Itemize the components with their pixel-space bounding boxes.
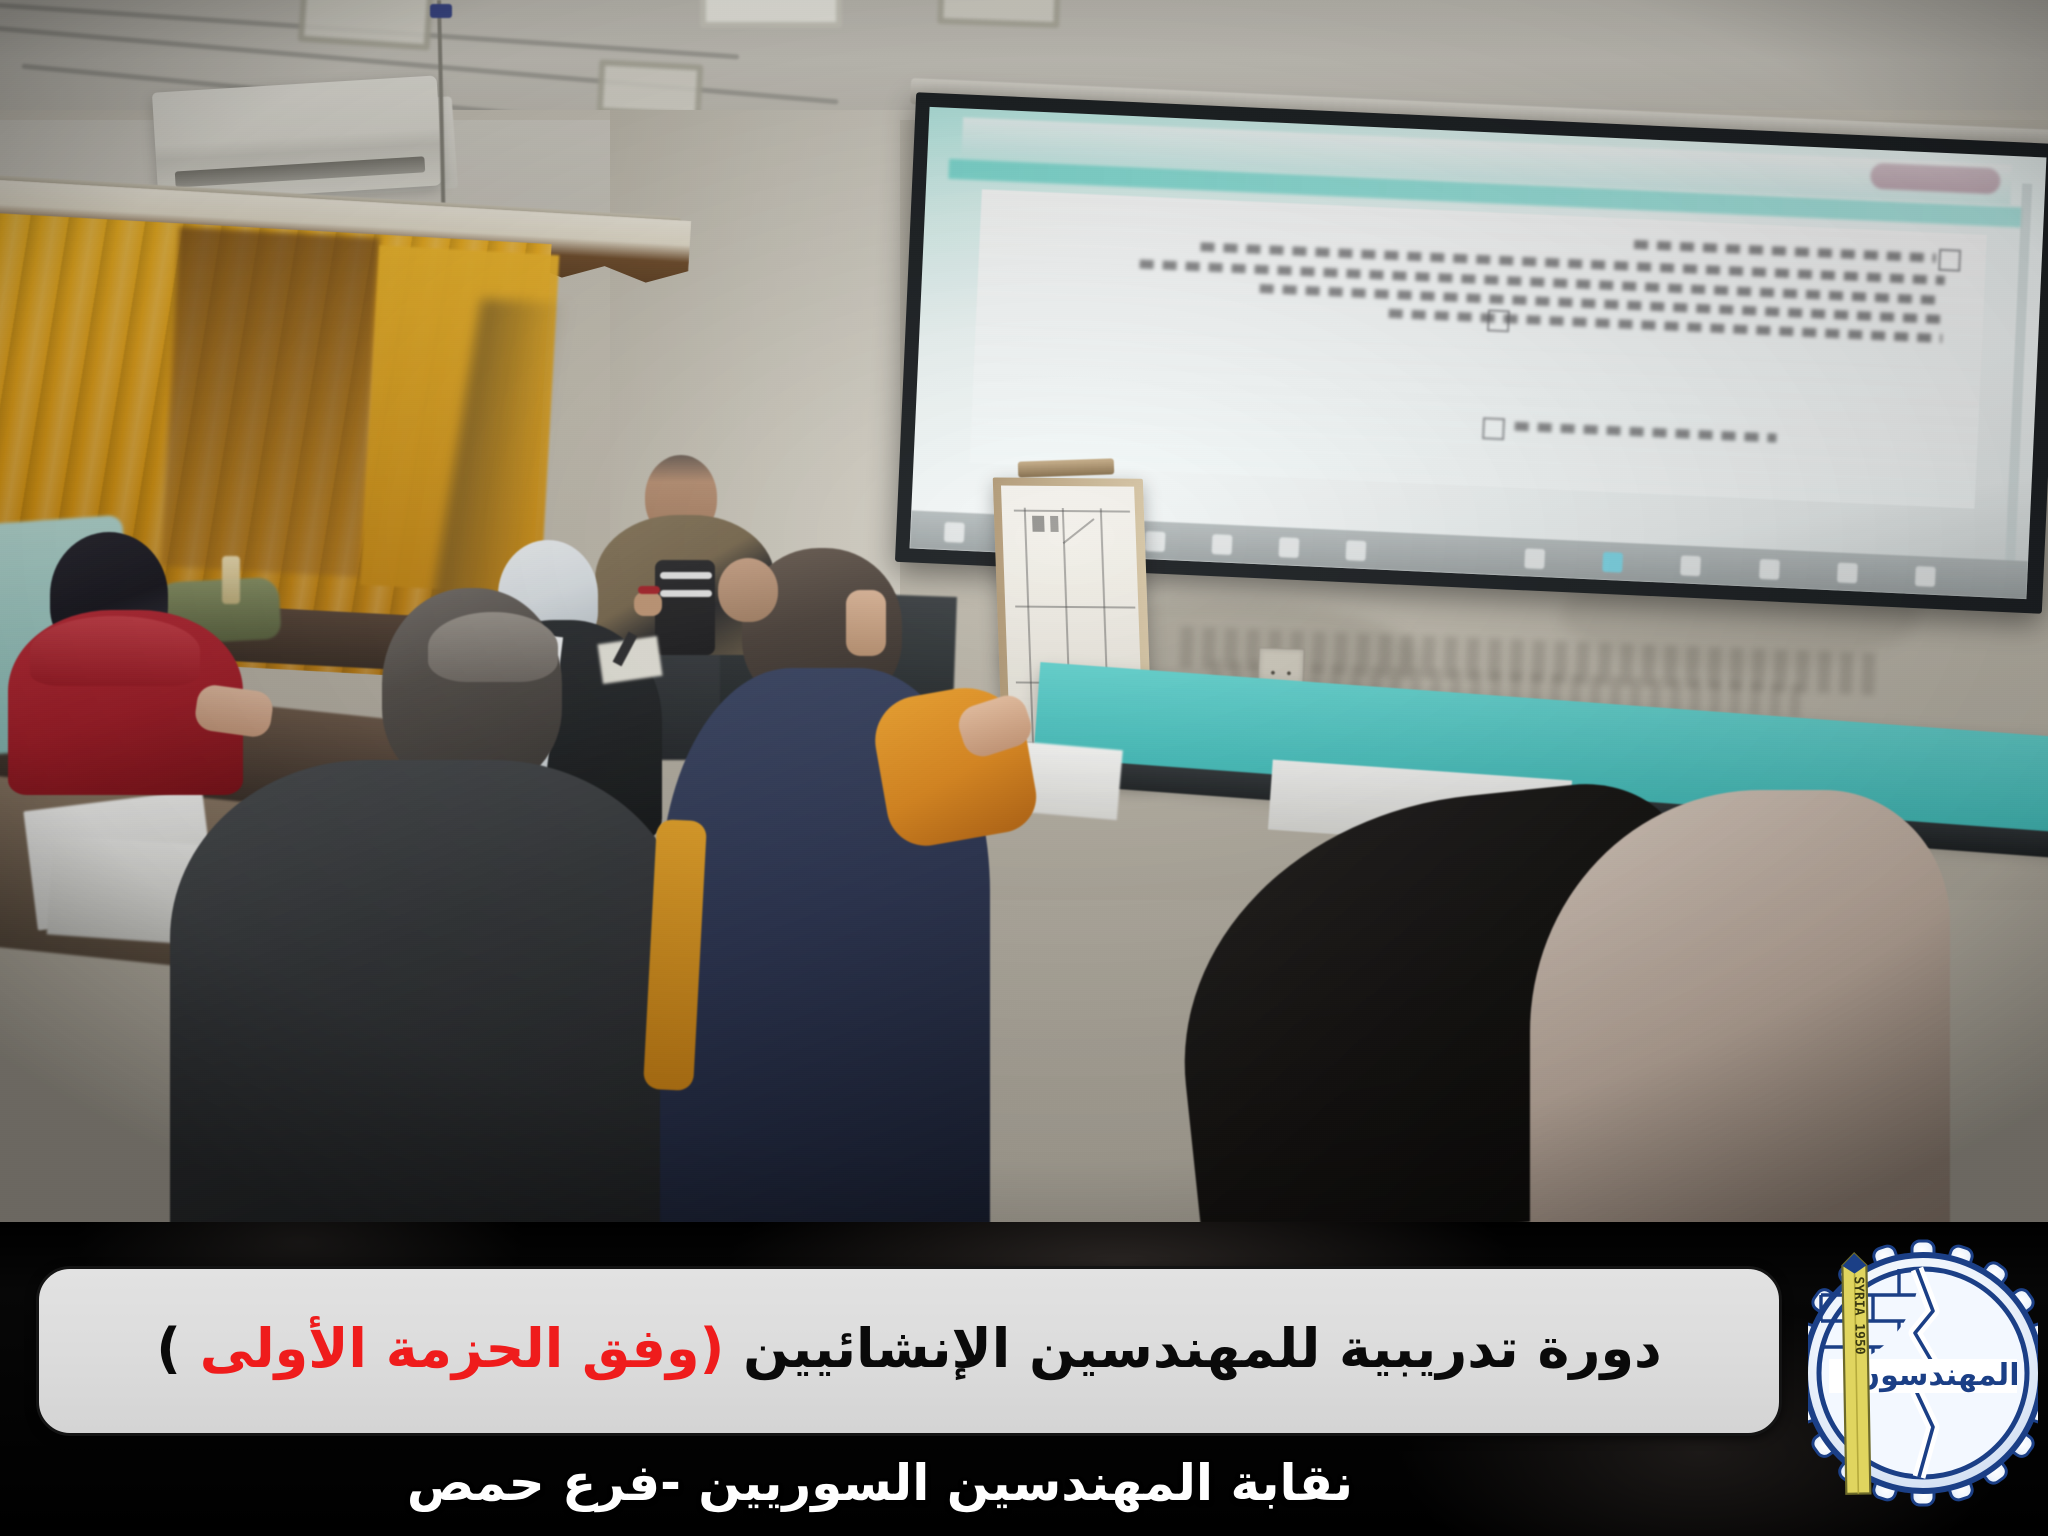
taskbar-icon [1144,531,1165,552]
air-conditioner [152,75,443,202]
projected-checkbox-icon [1938,249,1961,272]
projected-document-page [969,189,1987,508]
taskbar-icon [1211,534,1232,555]
taskbar-icon [943,522,964,543]
organization-subtitle: نقابة المهندسين السوريين -فرع حمص [0,1454,1760,1512]
taskbar-icon [1681,556,1702,577]
taskbar-icon [1915,566,1936,587]
caption-title-highlight: (وفق الحزمة الأولى [200,1317,725,1380]
photo-frame [0,0,2048,1222]
air-conditioner-vent [175,156,426,187]
caption-title-main: دورة تدريبية للمهندسين الإنشائيين [724,1317,1661,1380]
projected-checkbox-icon [1487,309,1510,332]
taskbar-icon [1278,537,1299,558]
caption-box: دورة تدريبية للمهندسين الإنشائيين (وفق ا… [36,1266,1782,1436]
caption-title-close: ) [156,1317,199,1380]
cable-clip [430,4,452,18]
bottle [222,556,240,604]
logo-pencil-text: SYRIA 1950 [1851,1276,1867,1355]
taskbar-icon [1602,552,1623,573]
caption-title: دورة تدريبية للمهندسين الإنشائيين (وفق ا… [156,1317,1661,1386]
ceiling-light [937,0,1061,28]
screenshot-root: دورة تدريبية للمهندسين الإنشائيين (وفق ا… [0,0,2048,1536]
ceiling-light [700,0,842,28]
flipchart-tray [1018,458,1114,477]
syndicate-logo: المهندسون SYRIA 1950 [1808,1234,2038,1512]
syndicate-logo-icon: المهندسون SYRIA 1950 [1808,1234,2038,1512]
taskbar-icon [1759,559,1780,580]
projected-scrollbar [2005,183,2032,563]
curtain-shadow [161,227,380,578]
taskbar-icon [1524,548,1545,569]
caption-banner: دورة تدريبية للمهندسين الإنشائيين (وفق ا… [0,1222,2048,1536]
taskbar-icon [1837,563,1858,584]
taskbar-icon [1345,540,1366,561]
projected-checkbox-icon [1482,417,1505,440]
logo-center-text: المهندسون [1855,1358,2020,1393]
